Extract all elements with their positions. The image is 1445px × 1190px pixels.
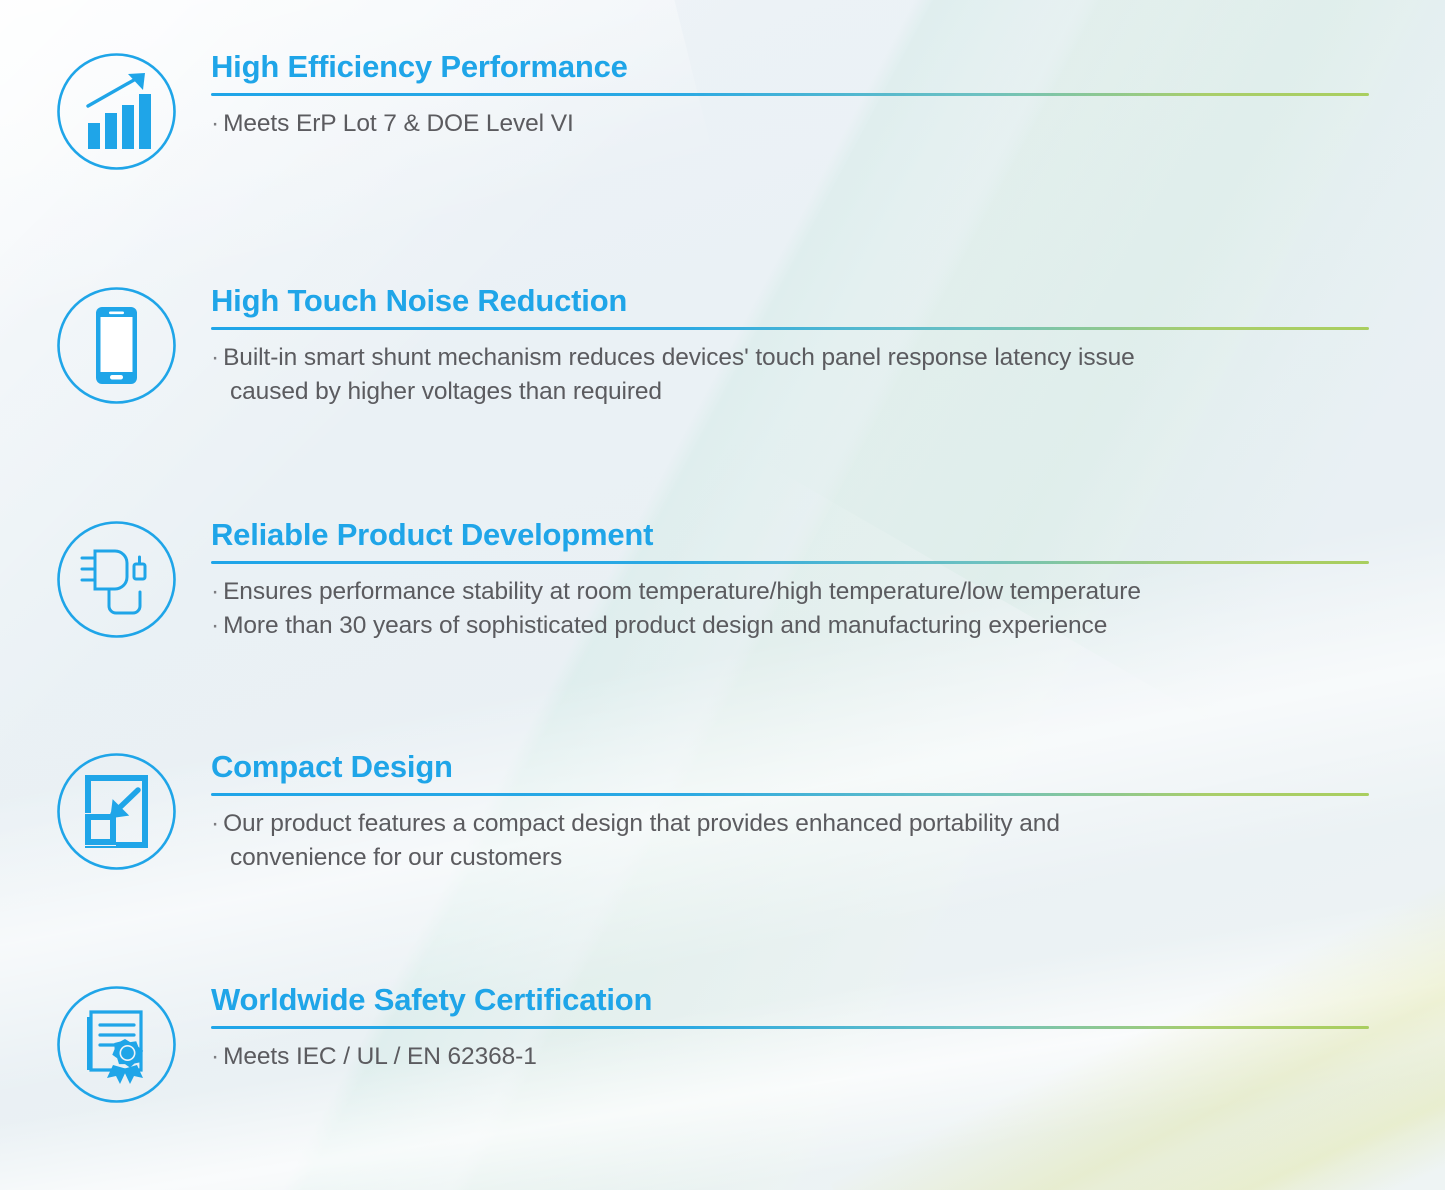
feature-body: Compact Design ·Our product features a c…: [211, 750, 1371, 874]
bullet-item: ·Ensures performance stability at room t…: [211, 575, 1371, 608]
feature-title: High Efficiency Performance: [211, 50, 1371, 83]
bullet-marker: ·: [211, 110, 219, 137]
bullet-item: ·Meets ErP Lot 7 & DOE Level VI: [211, 107, 1371, 140]
bullet-text: Our product features a compact design th…: [223, 810, 1060, 837]
feature-body: High Efficiency Performance ·Meets ErP L…: [211, 50, 1371, 141]
bullet-text: More than 30 years of sophisticated prod…: [223, 612, 1107, 639]
feature-divider: [211, 561, 1369, 564]
feature-bullets: ·Ensures performance stability at room t…: [211, 575, 1371, 642]
bullet-text-continued: caused by higher voltages than required: [211, 375, 1371, 408]
bullet-marker: ·: [211, 810, 219, 837]
smartphone-icon: [55, 284, 178, 407]
bullet-text: Built-in smart shunt mechanism reduces d…: [223, 344, 1135, 371]
feature-divider: [211, 327, 1369, 330]
feature-divider: [211, 793, 1369, 796]
bullet-marker: ·: [211, 578, 219, 605]
bullet-text: Ensures performance stability at room te…: [223, 578, 1141, 605]
feature-title: Compact Design: [211, 750, 1371, 783]
bullet-item: ·Meets IEC / UL / EN 62368-1: [211, 1040, 1371, 1073]
feature-bullets: ·Built-in smart shunt mechanism reduces …: [211, 341, 1371, 408]
feature-bullets: ·Our product features a compact design t…: [211, 807, 1371, 874]
feature-body: Worldwide Safety Certification ·Meets IE…: [211, 983, 1371, 1074]
feature-body: Reliable Product Development ·Ensures pe…: [211, 518, 1371, 642]
certificate-seal-icon: [55, 983, 178, 1106]
feature-title: High Touch Noise Reduction: [211, 284, 1371, 317]
bullet-marker: ·: [211, 344, 219, 371]
feature-bullets: ·Meets IEC / UL / EN 62368-1: [211, 1040, 1371, 1073]
bullet-item: ·Built-in smart shunt mechanism reduces …: [211, 341, 1371, 408]
feature-highlights-page: High Efficiency Performance ·Meets ErP L…: [0, 0, 1445, 1190]
bullet-text: Meets IEC / UL / EN 62368-1: [223, 1043, 537, 1070]
feature-divider: [211, 1026, 1369, 1029]
feature-divider: [211, 93, 1369, 96]
bullet-marker: ·: [211, 1043, 219, 1070]
bullet-text: Meets ErP Lot 7 & DOE Level VI: [223, 110, 574, 137]
bullet-item: ·Our product features a compact design t…: [211, 807, 1371, 874]
feature-title: Reliable Product Development: [211, 518, 1371, 551]
bar-chart-growth-icon: [55, 50, 178, 173]
compact-resize-icon: [55, 750, 178, 873]
power-adapter-icon: [55, 518, 178, 641]
bullet-text-continued: convenience for our customers: [211, 841, 1371, 874]
feature-bullets: ·Meets ErP Lot 7 & DOE Level VI: [211, 107, 1371, 140]
feature-title: Worldwide Safety Certification: [211, 983, 1371, 1016]
bullet-marker: ·: [211, 612, 219, 639]
bullet-item: ·More than 30 years of sophisticated pro…: [211, 609, 1371, 642]
feature-body: High Touch Noise Reduction ·Built-in sma…: [211, 284, 1371, 408]
